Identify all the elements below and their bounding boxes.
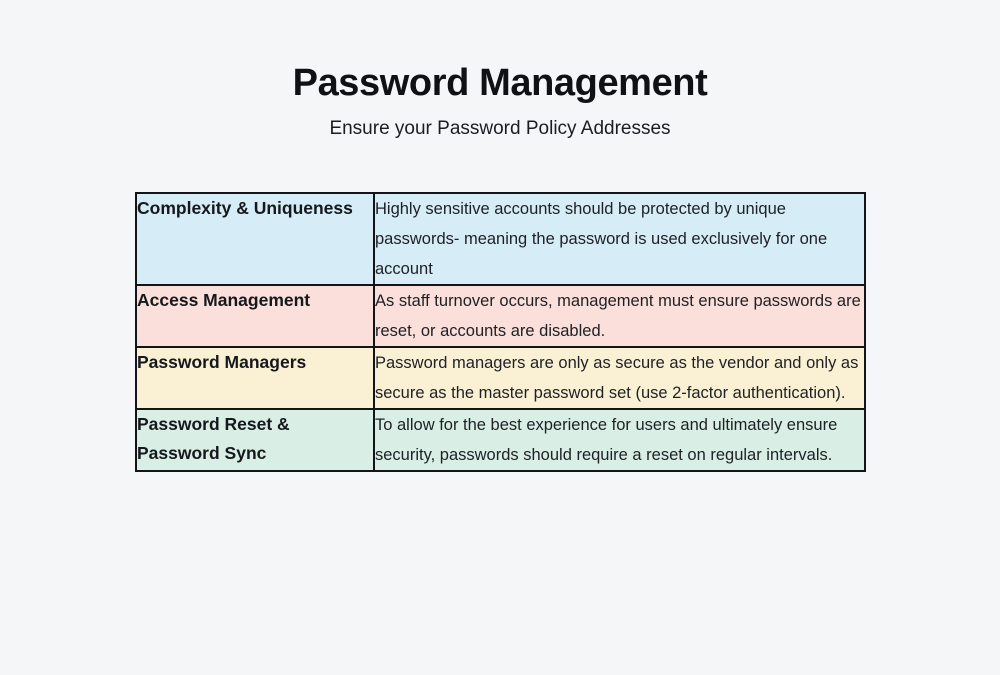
table-cell-label: Complexity & Uniqueness bbox=[136, 193, 374, 285]
table-row: Password Managers Password managers are … bbox=[136, 347, 865, 409]
table-cell-label: Access Management bbox=[136, 285, 374, 347]
page-title: Password Management bbox=[0, 62, 1000, 106]
row-label-complexity-uniqueness: Complexity & Uniqueness bbox=[137, 194, 373, 223]
table-cell-description: As staff turnover occurs, management mus… bbox=[374, 285, 865, 347]
table-row: Complexity & Uniqueness Highly sensitive… bbox=[136, 193, 865, 285]
password-policy-table-wrapper: Complexity & Uniqueness Highly sensitive… bbox=[135, 192, 866, 472]
row-description-access-management: As staff turnover occurs, management mus… bbox=[375, 286, 864, 346]
row-description-complexity-uniqueness: Highly sensitive accounts should be prot… bbox=[375, 194, 864, 284]
page-subtitle: Ensure your Password Policy Addresses bbox=[0, 117, 1000, 142]
table-cell-description: Password managers are only as secure as … bbox=[374, 347, 865, 409]
row-label-access-management: Access Management bbox=[137, 286, 373, 315]
table-cell-description: To allow for the best experience for use… bbox=[374, 409, 865, 471]
table-row: Password Reset & Password Sync To allow … bbox=[136, 409, 865, 471]
row-description-password-reset-sync: To allow for the best experience for use… bbox=[375, 410, 864, 470]
table-cell-label: Password Managers bbox=[136, 347, 374, 409]
password-policy-table: Complexity & Uniqueness Highly sensitive… bbox=[135, 192, 866, 472]
table-cell-description: Highly sensitive accounts should be prot… bbox=[374, 193, 865, 285]
row-label-password-reset-sync: Password Reset & Password Sync bbox=[137, 410, 373, 468]
row-label-password-managers: Password Managers bbox=[137, 348, 373, 377]
row-description-password-managers: Password managers are only as secure as … bbox=[375, 348, 864, 408]
table-row: Access Management As staff turnover occu… bbox=[136, 285, 865, 347]
slide-canvas: Password Management Ensure your Password… bbox=[0, 0, 1000, 675]
header: Password Management Ensure your Password… bbox=[0, 0, 1000, 141]
table-cell-label: Password Reset & Password Sync bbox=[136, 409, 374, 471]
